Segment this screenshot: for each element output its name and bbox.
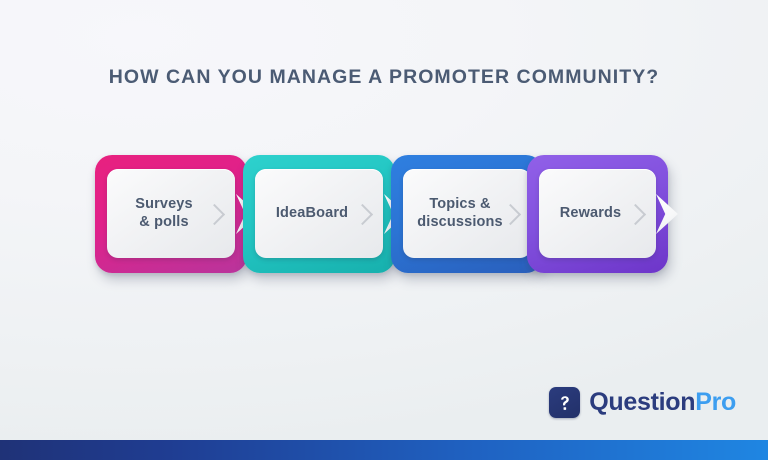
questionpro-wordmark: QuestionPro: [589, 390, 736, 415]
flow-step-card: Surveys & polls: [107, 169, 235, 258]
wordmark-question: Question: [589, 388, 695, 416]
flow-step-card: Topics & discussions: [403, 169, 531, 258]
flow-step-label-line2: discussions: [417, 214, 502, 230]
flow-step-card: IdeaBoard: [255, 169, 383, 258]
flow-step-label-line1: Rewards: [560, 205, 622, 221]
wordmark-pro: Pro: [695, 388, 736, 416]
infographic-canvas: HOW CAN YOU MANAGE A PROMOTER COMMUNITY?…: [0, 0, 768, 460]
flow-step-label-line2: & polls: [139, 214, 188, 230]
questionpro-logo[interactable]: QuestionPro: [549, 387, 736, 418]
flow-step-label-line1: IdeaBoard: [276, 205, 348, 221]
flow-step-label: Surveys & polls: [127, 196, 214, 232]
bottom-accent-bar: [0, 440, 768, 460]
flow-step-ideaboard[interactable]: IdeaBoard: [243, 155, 395, 273]
flow-step-label-line1: Topics &: [429, 196, 490, 212]
flow-step-surveys-polls[interactable]: Surveys & polls: [95, 155, 247, 273]
flow-step-topics-discussions[interactable]: Topics & discussions: [391, 155, 543, 273]
flow-step-card: Rewards: [539, 169, 656, 258]
flow-step-label-line1: Surveys: [135, 196, 192, 212]
questionpro-mark-icon: [549, 387, 580, 418]
flow-step-rewards[interactable]: Rewards: [527, 155, 668, 273]
